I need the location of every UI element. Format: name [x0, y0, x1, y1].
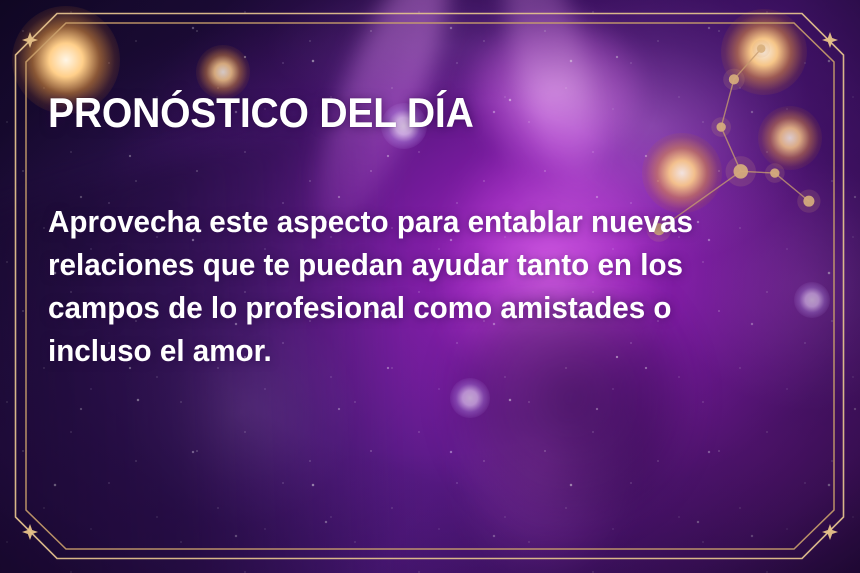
page-title: PRONÓSTICO DEL DÍA: [48, 92, 474, 134]
card-content: PRONÓSTICO DEL DÍA Aprovecha este aspect…: [48, 0, 784, 573]
forecast-body-text: Aprovecha este aspecto para entablar nue…: [48, 200, 747, 372]
horoscope-card: PRONÓSTICO DEL DÍA Aprovecha este aspect…: [0, 0, 860, 573]
